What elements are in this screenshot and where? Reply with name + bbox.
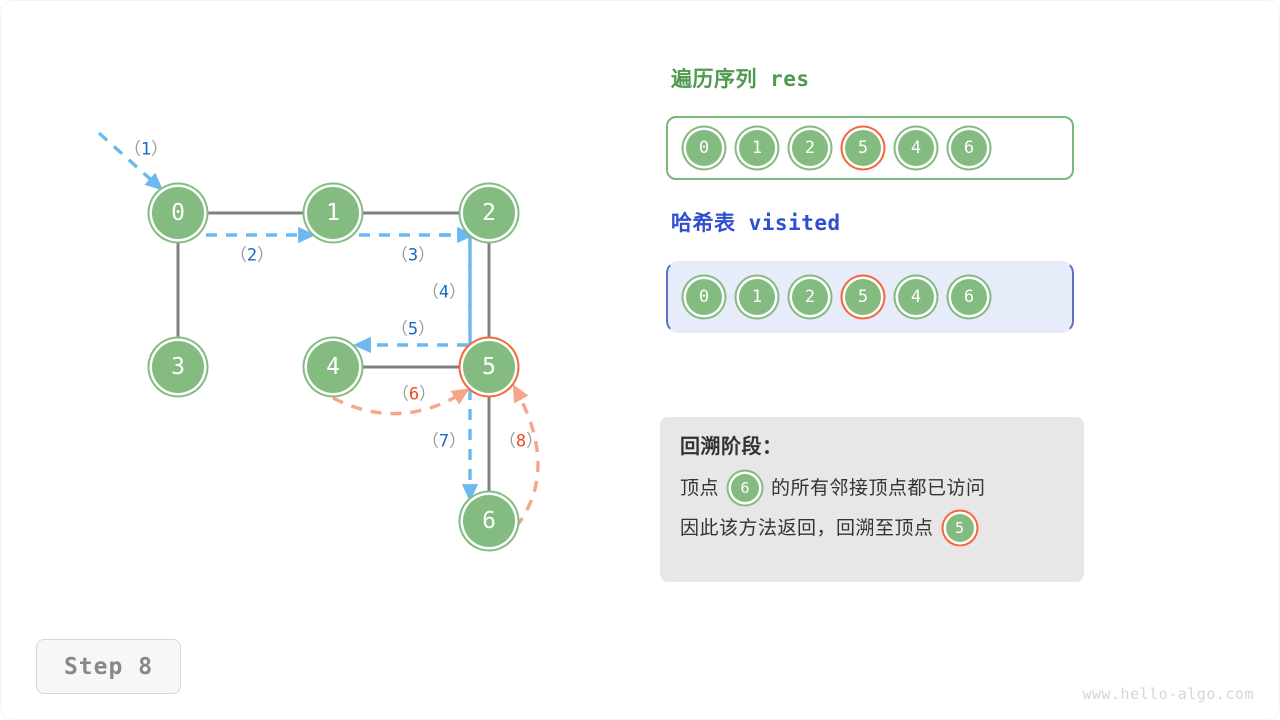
visited-hashmap-box: 0 1 2 5 4 6 — [666, 261, 1074, 333]
edge-step-label-2: （2） — [230, 241, 274, 266]
res-cell[interactable]: 0 — [686, 130, 722, 166]
visited-cell[interactable]: 2 — [792, 279, 828, 315]
graph-vertex-label: 2 — [482, 200, 496, 226]
edge-step-label-1: （1） — [124, 135, 168, 160]
arrow-step-8 — [516, 390, 538, 527]
visited-cell-label: 4 — [911, 287, 921, 307]
res-cell[interactable]: 6 — [951, 130, 987, 166]
explanation-card: 回溯阶段： 顶点 6 的所有邻接顶点都已访问 因此该方法返回，回溯至顶点 5 — [660, 417, 1084, 582]
edge-step-label-5: （5） — [391, 315, 435, 340]
edge-step-number: 6 — [409, 385, 419, 405]
res-cell-label: 0 — [699, 138, 709, 158]
edge-step-label-4: （4） — [422, 278, 466, 303]
visited-cell[interactable]: 4 — [898, 279, 934, 315]
res-cell[interactable]: 2 — [792, 130, 828, 166]
visited-cell-label: 1 — [752, 287, 762, 307]
res-array-box: 0 1 2 5 4 6 — [666, 116, 1074, 180]
edge-step-number: 2 — [247, 246, 257, 266]
explanation-line-1: 顶点 6 的所有邻接顶点都已访问 — [680, 474, 1084, 502]
res-cell-label: 5 — [858, 138, 868, 158]
visited-cell-label: 2 — [805, 287, 815, 307]
edge-step-number: 5 — [408, 320, 418, 340]
graph-vertex-5[interactable]: 5 — [463, 341, 515, 393]
graph-vertex-label: 3 — [171, 354, 185, 380]
res-cell[interactable]: 4 — [898, 130, 934, 166]
graph-vertex-label: 0 — [171, 200, 185, 226]
site-watermark: www.hello-algo.com — [1082, 685, 1254, 703]
visited-cell[interactable]: 0 — [686, 279, 722, 315]
visited-cell-label: 5 — [858, 287, 868, 307]
edge-step-number: 1 — [141, 140, 151, 160]
explanation-line-2-before: 因此该方法返回，回溯至顶点 — [680, 519, 934, 538]
graph-vertex-label: 4 — [326, 354, 340, 380]
visited-cell[interactable]: 1 — [739, 279, 775, 315]
edge-step-number: 8 — [516, 432, 526, 452]
graph-vertex-label: 1 — [326, 200, 340, 226]
explanation-line-1-after: 的所有邻接顶点都已访问 — [771, 479, 986, 498]
visited-cell-label: 0 — [699, 287, 709, 307]
visited-cell[interactable]: 6 — [951, 279, 987, 315]
explanation-node-label: 5 — [955, 521, 964, 536]
res-cell-label: 6 — [964, 138, 974, 158]
graph-vertex-label: 6 — [482, 508, 496, 534]
edge-step-label-7: （7） — [422, 427, 466, 452]
edge-step-number: 4 — [439, 283, 449, 303]
step-indicator: Step 8 — [36, 639, 181, 694]
explanation-line-2: 因此该方法返回，回溯至顶点 5 — [680, 514, 1084, 542]
visited-cell-highlighted[interactable]: 5 — [845, 279, 881, 315]
graph-vertex-4[interactable]: 4 — [307, 341, 359, 393]
explanation-node-5: 5 — [946, 514, 974, 542]
visited-panel-title: 哈希表 visited — [671, 207, 841, 237]
diagram-canvas: 0 1 2 3 4 5 6 （1） （2） （3） （4） （5） （6） （7… — [0, 0, 1280, 720]
graph-vertex-label: 5 — [482, 354, 496, 380]
explanation-line-1-before: 顶点 — [680, 479, 719, 498]
step-indicator-label: Step 8 — [64, 654, 153, 680]
edge-step-label-8: （8） — [499, 427, 543, 452]
edge-step-number: 3 — [408, 246, 418, 266]
res-cell[interactable]: 1 — [739, 130, 775, 166]
graph-vertex-1[interactable]: 1 — [307, 187, 359, 239]
res-cell-label: 4 — [911, 138, 921, 158]
res-cell-highlighted[interactable]: 5 — [845, 130, 881, 166]
visited-cell-label: 6 — [964, 287, 974, 307]
res-panel-title: 遍历序列 res — [671, 63, 810, 93]
graph-vertex-3[interactable]: 3 — [152, 341, 204, 393]
graph-vertex-2[interactable]: 2 — [463, 187, 515, 239]
res-cell-label: 2 — [805, 138, 815, 158]
edge-step-label-3: （3） — [391, 241, 435, 266]
edge-step-label-6: （6） — [392, 380, 436, 405]
edge-step-number: 7 — [439, 432, 449, 452]
graph-vertex-6[interactable]: 6 — [463, 495, 515, 547]
explanation-heading: 回溯阶段： — [680, 437, 1084, 457]
explanation-node-label: 6 — [741, 481, 750, 496]
watermark-text: www.hello-algo.com — [1082, 685, 1254, 703]
explanation-node-6: 6 — [731, 474, 759, 502]
res-cell-label: 1 — [752, 138, 762, 158]
graph-vertex-0[interactable]: 0 — [152, 187, 204, 239]
